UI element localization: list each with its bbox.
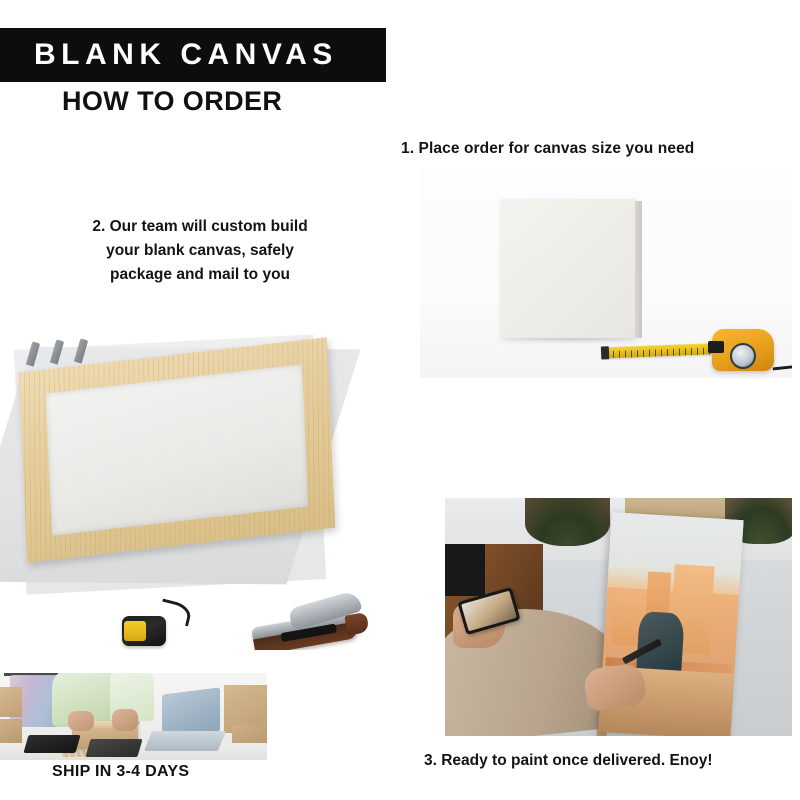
tape-measure-cord [771,352,792,370]
frame-opening [46,364,309,535]
tape-measure-body [712,329,774,371]
step-3-caption: 3. Ready to paint once delivered. Enoy! [424,752,713,770]
shipping-label: SHIP IN 3-4 DAYS [52,763,189,781]
dark-cloth [445,544,485,596]
wooden-frame [19,337,335,562]
laptop [148,691,222,751]
hanging-plant-left [525,498,610,546]
blank-canvas-photo [420,168,792,378]
blank-canvas-object [500,199,635,338]
step-2-caption-line-1: 2. Our team will custom build [50,215,350,239]
packer-hand-left [68,711,94,731]
packing-photo [0,673,267,760]
staple-2 [50,339,64,364]
infographic-root: BLANK CANVAS HOW TO ORDER 1. Place order… [0,0,800,800]
staple-3 [74,338,88,363]
staples-group [27,340,97,368]
tape-measure-2 [122,616,166,646]
staple-1 [26,341,40,366]
packer-hand-right [112,709,138,731]
step-2-caption-line-2: your blank canvas, safely [50,239,350,263]
step-1-caption: 1. Place order for canvas size you need [401,140,694,158]
painting-photo [445,498,792,736]
tape-measure-slot [708,341,724,353]
title-banner: BLANK CANVAS [0,28,386,82]
step-2-caption-line-3: package and mail to you [50,263,350,287]
staple-gun-nose [344,612,369,636]
page-title: BLANK CANVAS [0,40,338,70]
staple-gun [248,591,373,650]
frame-build-photo [0,300,440,650]
page-subtitle: HOW TO ORDER [62,87,282,117]
stacked-box-1 [0,687,22,717]
laptop-base [144,731,226,751]
calculator [23,735,80,753]
step-2-caption: 2. Our team will custom build your blank… [50,215,350,287]
tablet-device [85,739,142,757]
